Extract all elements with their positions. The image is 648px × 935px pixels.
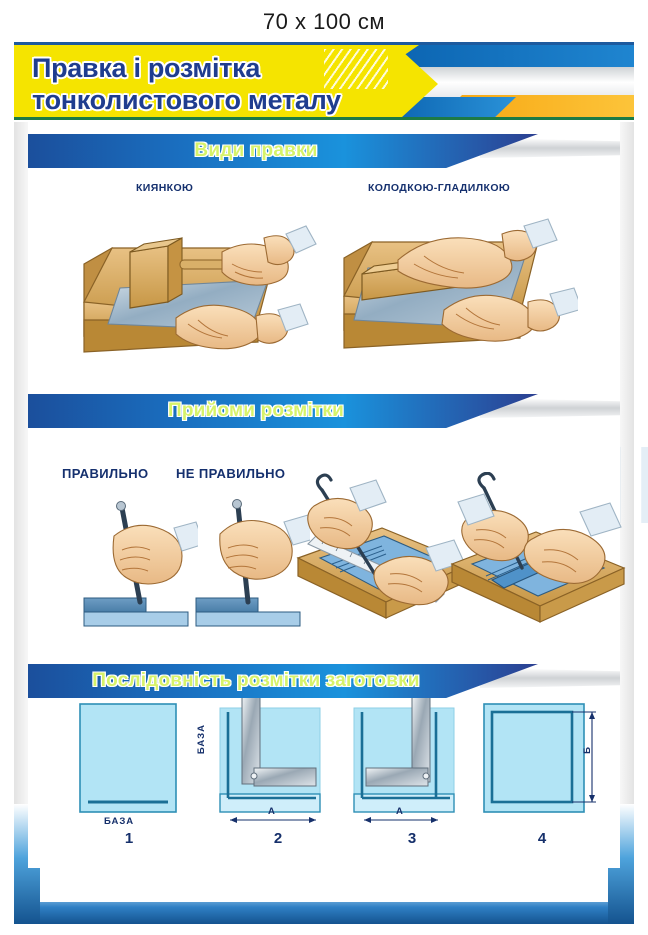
section-3-ribbon: Послідовність розмітки заготовки (28, 664, 620, 698)
section-2-ribbon: Прийоми розмітки (28, 394, 620, 428)
section-poslidovnist: Послідовність розмітки заготовки БАЗА 1 … (28, 664, 620, 868)
caption-kolodkoyu: КОЛОДКОЮ-ГЛАДИЛКОЮ (368, 182, 510, 194)
poster-title-line-2: тонколистового металу (32, 85, 462, 117)
diagram-step-2-drawing (214, 698, 342, 828)
size-caption: 70 x 100 см (0, 0, 648, 44)
illustration-mallet-straightening (72, 202, 322, 362)
diagram-step-4-drawing (478, 698, 606, 828)
frame-bottom-inner (36, 868, 612, 902)
label-dim-a-step-2: А (268, 806, 276, 817)
caption-ne-pravylno: НЕ ПРАВИЛЬНО (176, 466, 285, 481)
ribbon-body: Види правки (28, 134, 538, 168)
label-dim-a-step-3: А (396, 806, 404, 817)
diagram-number-4: 4 (478, 830, 606, 847)
section-1-ribbon: Види правки (28, 134, 620, 168)
diagram-step-1-drawing (70, 698, 188, 823)
diagram-number-3: 3 (348, 830, 476, 847)
diagram-number-2: 2 (214, 830, 342, 847)
section-3-title: Послідовність розмітки заготовки (92, 670, 473, 692)
label-baza-step-1: БАЗА (104, 816, 134, 827)
illustration-scribing-with-template (440, 472, 630, 652)
poster-title-line-1: Правка і розмітка (32, 53, 462, 85)
label-baza-vertical: БАЗА (196, 724, 207, 754)
diagram-step-3-drawing (348, 698, 476, 828)
section-2-title: Прийоми розмітки (168, 400, 398, 422)
diagram-step-2: А 2 (214, 698, 342, 858)
poster: DORA.NET Правка і розмітка тонколистовог… (14, 42, 634, 924)
diagram-number-1: 1 (70, 830, 188, 847)
ribbon-body: Послідовність розмітки заготовки (28, 664, 538, 698)
section-pryiomy-rozmitky: Прийоми розмітки ПРАВИЛЬНО НЕ ПРАВИЛЬНО (28, 394, 620, 658)
caption-pravylno: ПРАВИЛЬНО (62, 466, 149, 481)
poster-header-banner: Правка і розмітка тонколистового металу (14, 42, 634, 120)
marking-sequence-diagrams: БАЗА 1 БАЗА (28, 698, 620, 858)
section-1-title: Види правки (194, 140, 371, 162)
section-2-body: ПРАВИЛЬНО НЕ ПРАВИЛЬНО (28, 428, 620, 658)
illustration-scriber-correct (78, 494, 198, 634)
label-dim-b-step-4: Б (582, 746, 593, 754)
section-vydy-pravky: Види правки КИЯНКОЮ КОЛОДКОЮ-ГЛАДИЛКОЮ (28, 134, 620, 382)
poster-title: Правка і розмітка тонколистового металу (32, 53, 462, 117)
section-1-body: КИЯНКОЮ КОЛОДКОЮ-ГЛАДИЛКОЮ (28, 168, 620, 382)
illustration-smoothing-block (328, 202, 578, 362)
diagram-step-1: БАЗА 1 (70, 698, 188, 858)
diagram-step-3: А 3 (348, 698, 476, 858)
ribbon-body: Прийоми розмітки (28, 394, 538, 428)
caption-kyyankoyu: КИЯНКОЮ (136, 182, 193, 194)
frame-left-edge (14, 122, 28, 882)
diagram-step-4: Б 4 (478, 698, 606, 858)
section-3-body: БАЗА 1 БАЗА (28, 698, 620, 868)
